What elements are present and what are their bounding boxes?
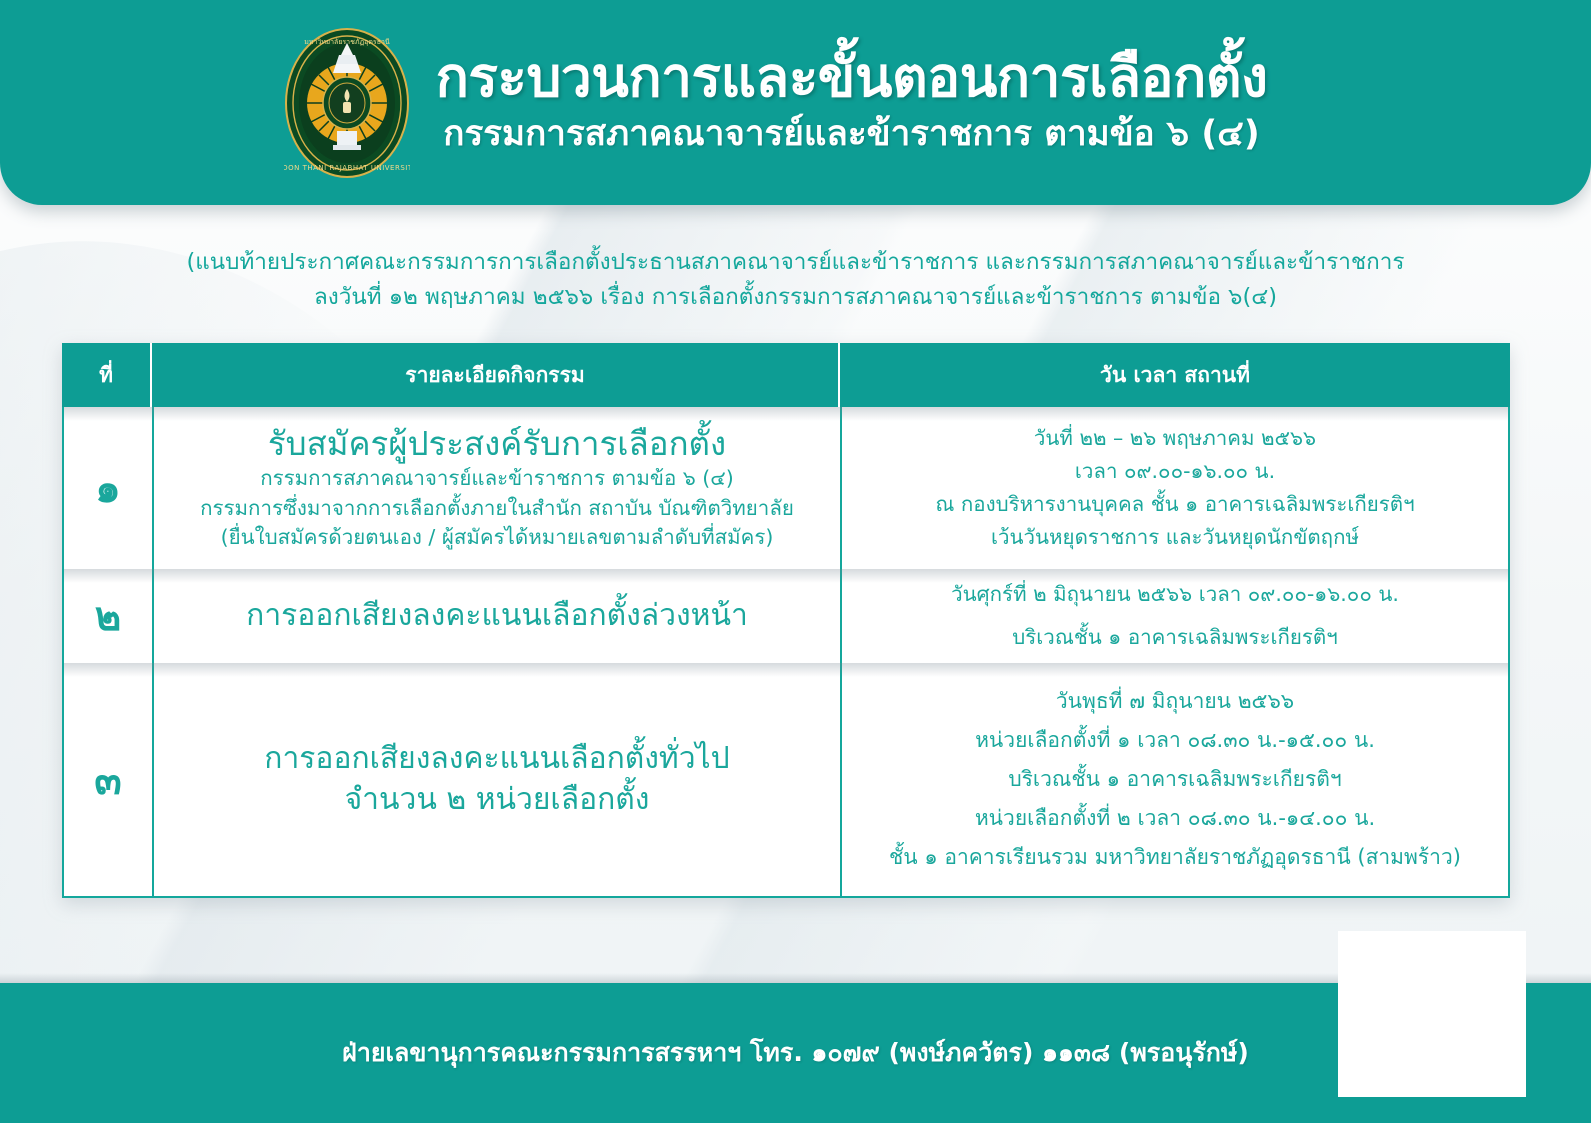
row-when: วันศุกร์ที่ ๒ มิถุนายน ๒๕๖๖ เวลา ๐๙.๐๐-๑… xyxy=(842,569,1508,663)
activity-detail: (ยื่นใบสมัครด้วยตนเอง / ผู้สมัครได้หมายเ… xyxy=(221,523,774,552)
intro-line-1: (แนบท้ายประกาศคณะกรรมการการเลือกตั้งประธ… xyxy=(0,245,1591,280)
column-header-when: วัน เวลา สถานที่ xyxy=(840,343,1510,407)
svg-text:UDON THANI RAJABHAT UNIVERSITY: UDON THANI RAJABHAT UNIVERSITY xyxy=(284,164,410,172)
table-row: ๓ การออกเสียงลงคะแนนเลือกตั้งทั่วไป จำนว… xyxy=(62,663,1510,898)
when-text: บริเวณชั้น ๑ อาคารเฉลิมพระเกียรติฯ xyxy=(1008,767,1341,791)
footer-contact-text: ฝ่ายเลขานุการคณะกรรมการสรรหาฯ โทร. ๑๐๗๙ … xyxy=(342,1033,1249,1073)
when-detail: เวลา ๐๙.๐๐-๑๖.๐๐ น. xyxy=(1075,455,1275,488)
intro-paragraph: (แนบท้ายประกาศคณะกรรมการการเลือกตั้งประธ… xyxy=(0,245,1591,315)
activity-title-second: จำนวน ๒ หน่วยเลือกตั้ง xyxy=(345,780,650,821)
when-text: วันพุธที่ ๗ มิถุนายน ๒๕๖๖ xyxy=(1056,689,1294,713)
page-subtitle: กรรมการสภาคณาจารย์และข้าราชการ ตามข้อ ๖ … xyxy=(443,113,1259,157)
intro-line-2: ลงวันที่ ๑๒ พฤษภาคม ๒๕๖๖ เรื่อง การเลือก… xyxy=(0,280,1591,315)
row-activity: การออกเสียงลงคะแนนเลือกตั้งทั่วไป จำนวน … xyxy=(154,663,842,896)
activity-title: รับสมัครผู้ประสงค์รับการเลือกตั้ง xyxy=(268,424,726,464)
page-header: มหาวิทยาลัยราชภัฏอุดรธานี UDON THANI RAJ… xyxy=(0,0,1591,205)
schedule-table: ที่ รายละเอียดกิจกรรม วัน เวลา สถานที่ ๑… xyxy=(62,343,1510,898)
when-detail: ชั้น ๑ อาคารเรียนรวม มหาวิทยาลัยราชภัฏอุ… xyxy=(889,838,1461,877)
activity-title: การออกเสียงลงคะแนนเลือกตั้งล่วงหน้า xyxy=(246,596,748,637)
activity-detail: กรรมการสภาคณาจารย์และข้าราชการ ตามข้อ ๖ … xyxy=(260,464,734,493)
table-header-row: ที่ รายละเอียดกิจกรรม วัน เวลา สถานที่ xyxy=(62,343,1510,407)
row-activity: การออกเสียงลงคะแนนเลือกตั้งล่วงหน้า xyxy=(154,569,842,663)
when-detail: วันที่ ๒๒ – ๒๖ พฤษภาคม ๒๕๖๖ xyxy=(1034,422,1316,455)
footer-white-block xyxy=(1338,931,1526,1097)
row-number: ๒ xyxy=(64,569,154,663)
university-seal-icon: มหาวิทยาลัยราชภัฏอุดรธานี UDON THANI RAJ… xyxy=(284,27,410,179)
row-number: ๓ xyxy=(64,663,154,896)
row-when: วันที่ ๒๒ – ๒๖ พฤษภาคม ๒๕๖๖ เวลา ๐๙.๐๐-๑… xyxy=(842,407,1508,569)
poster-page: มหาวิทยาลัยราชภัฏอุดรธานี UDON THANI RAJ… xyxy=(0,0,1591,1123)
svg-text:มหาวิทยาลัยราชภัฏอุดรธานี: มหาวิทยาลัยราชภัฏอุดรธานี xyxy=(304,38,390,46)
polling-unit-2-label: หน่วยเลือกตั้งที่ ๒ xyxy=(975,806,1131,830)
row-when: วันพุธที่ ๗ มิถุนายน ๒๕๖๖ หน่วยเลือกตั้ง… xyxy=(842,663,1508,896)
column-header-activity: รายละเอียดกิจกรรม xyxy=(152,343,840,407)
when-detail: เว้นวันหยุดราชการ และวันหยุดนักขัตฤกษ์ xyxy=(991,521,1359,554)
when-detail: วันศุกร์ที่ ๒ มิถุนายน ๒๕๖๖ เวลา ๐๙.๐๐-๑… xyxy=(951,578,1399,611)
polling-unit-1-label: หน่วยเลือกตั้งที่ ๑ xyxy=(975,728,1130,752)
header-titles: กระบวนการและขั้นตอนการเลือกตั้ง กรรมการส… xyxy=(436,48,1268,156)
row-number: ๑ xyxy=(64,407,154,569)
when-detail: ณ กองบริหารงานบุคคล ชั้น ๑ อาคารเฉลิมพระ… xyxy=(935,488,1414,521)
when-detail: วันพุธที่ ๗ มิถุนายน ๒๕๖๖ xyxy=(1056,682,1294,721)
when-text: เวลา ๐๘.๓๐ น.-๑๕.๐๐ น. xyxy=(1131,728,1375,752)
row-activity: รับสมัครผู้ประสงค์รับการเลือกตั้ง กรรมกา… xyxy=(154,407,842,569)
when-detail: หน่วยเลือกตั้งที่ ๑ เวลา ๐๘.๓๐ น.-๑๕.๐๐ … xyxy=(975,721,1375,760)
when-detail: หน่วยเลือกตั้งที่ ๒ เวลา ๐๘.๓๐ น.-๑๔.๐๐ … xyxy=(975,799,1375,838)
when-text: ชั้น ๑ อาคารเรียนรวม มหาวิทยาลัยราชภัฏอุ… xyxy=(889,845,1461,869)
table-row: ๒ การออกเสียงลงคะแนนเลือกตั้งล่วงหน้า วั… xyxy=(62,569,1510,663)
page-title: กระบวนการและขั้นตอนการเลือกตั้ง xyxy=(436,48,1268,106)
table-row: ๑ รับสมัครผู้ประสงค์รับการเลือกตั้ง กรรม… xyxy=(62,407,1510,569)
column-header-no: ที่ xyxy=(62,343,152,407)
activity-detail: กรรมการซึ่งมาจากการเลือกตั้งภายในสำนัก ส… xyxy=(200,494,794,523)
activity-title: การออกเสียงลงคะแนนเลือกตั้งทั่วไป xyxy=(264,739,729,780)
when-detail: บริเวณชั้น ๑ อาคารเฉลิมพระเกียรติฯ xyxy=(1008,760,1341,799)
when-detail: บริเวณชั้น ๑ อาคารเฉลิมพระเกียรติฯ xyxy=(1012,621,1337,654)
when-text: เวลา ๐๘.๓๐ น.-๑๔.๐๐ น. xyxy=(1131,806,1375,830)
